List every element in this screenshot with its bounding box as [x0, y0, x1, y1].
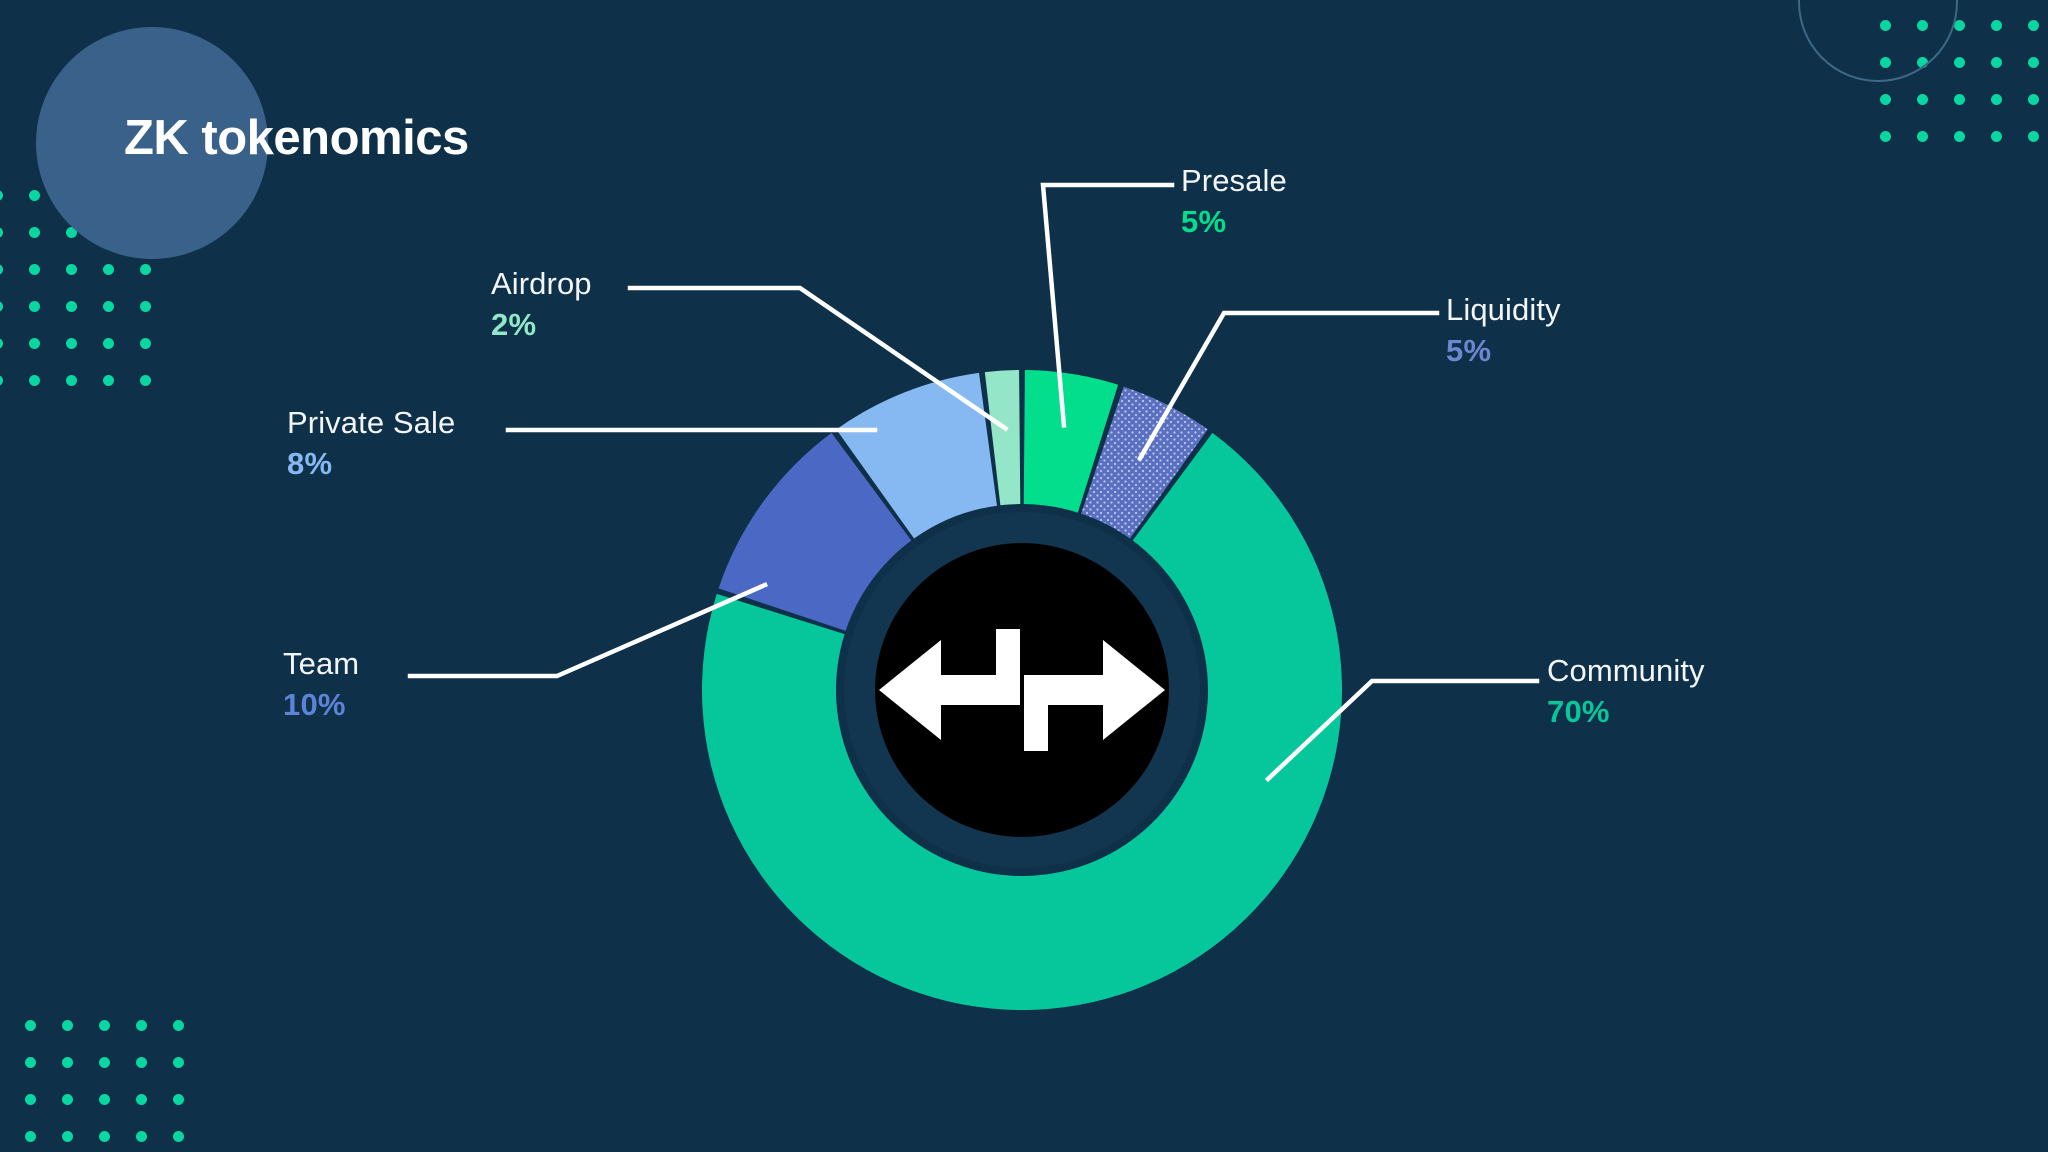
callout-private-sale-value: 8%	[287, 448, 455, 480]
callout-private-sale: Private Sale 8%	[287, 407, 455, 479]
callout-community: Community 70%	[1547, 655, 1705, 727]
callout-private-sale-label: Private Sale	[287, 407, 455, 439]
callout-presale: Presale 5%	[1181, 165, 1287, 237]
callout-airdrop: Airdrop 2%	[491, 268, 592, 340]
callout-team-value: 10%	[283, 689, 359, 721]
donut-chart-svg	[0, 0, 2048, 1152]
donut-chart	[0, 0, 2048, 1152]
callout-airdrop-label: Airdrop	[491, 268, 592, 300]
callout-team-label: Team	[283, 648, 359, 680]
callout-liquidity-label: Liquidity	[1446, 294, 1561, 326]
callout-liquidity-value: 5%	[1446, 335, 1561, 367]
callout-airdrop-value: 2%	[491, 309, 592, 341]
slide-canvas: ZK tokenomics Airdr	[0, 0, 2048, 1152]
callout-presale-value: 5%	[1181, 206, 1287, 238]
callout-liquidity: Liquidity 5%	[1446, 294, 1561, 366]
callout-team: Team 10%	[283, 648, 359, 720]
callout-presale-label: Presale	[1181, 165, 1287, 197]
callout-community-value: 70%	[1547, 696, 1705, 728]
callout-community-label: Community	[1547, 655, 1705, 687]
